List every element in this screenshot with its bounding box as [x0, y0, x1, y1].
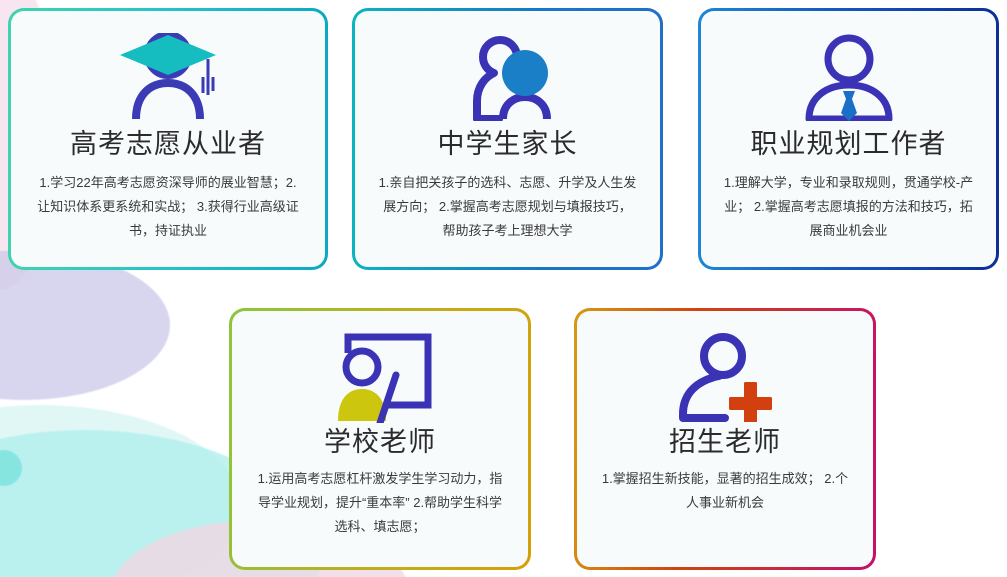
teacher-at-board-icon [324, 331, 436, 423]
audience-card-high-school-parent[interactable]: 中学生家长 1.亲自把关孩子的选科、志愿、升学及人生发展方向； 2.掌握高考志愿… [352, 8, 663, 270]
graduation-cap-person-icon [112, 31, 224, 123]
card-inner: 职业规划工作者 1.理解大学，专业和录取规则，贯通学校-产业； 2.掌握高考志愿… [701, 11, 996, 267]
person-with-necktie-icon [799, 31, 899, 123]
add-person-icon [671, 331, 779, 423]
card-title: 招生老师 [669, 427, 781, 457]
audience-card-gaokao-volunteer-practitioner[interactable]: 高考志愿从业者 1.学习22年高考志愿资深导师的展业智慧；2.让知识体系更系统和… [8, 8, 328, 270]
card-inner: 高考志愿从业者 1.学习22年高考志愿资深导师的展业智慧；2.让知识体系更系统和… [11, 11, 325, 267]
card-title: 中学生家长 [438, 129, 578, 159]
parent-and-child-icon [455, 31, 561, 123]
card-title: 职业规划工作者 [751, 129, 947, 159]
card-description: 1.理解大学，专业和录取规则，贯通学校-产业； 2.掌握高考志愿填报的方法和技巧… [717, 171, 980, 243]
audience-card-career-planner[interactable]: 职业规划工作者 1.理解大学，专业和录取规则，贯通学校-产业； 2.掌握高考志愿… [698, 8, 999, 270]
card-title: 高考志愿从业者 [70, 129, 266, 159]
card-title: 学校老师 [324, 427, 436, 457]
card-description: 1.运用高考志愿杠杆激发学生学习动力，指导学业规划，提升“重本率” 2.帮助学生… [248, 467, 512, 539]
audience-card-grid: 高考志愿从业者 1.学习22年高考志愿资深导师的展业智慧；2.让知识体系更系统和… [0, 0, 1007, 577]
card-description: 1.亲自把关孩子的选科、志愿、升学及人生发展方向； 2.掌握高考志愿规划与填报技… [371, 171, 644, 243]
audience-card-admissions-teacher[interactable]: 招生老师 1.掌握招生新技能，显著的招生成效； 2.个人事业新机会 [574, 308, 876, 570]
audience-card-school-teacher[interactable]: 学校老师 1.运用高考志愿杠杆激发学生学习动力，指导学业规划，提升“重本率” 2… [229, 308, 531, 570]
card-inner: 学校老师 1.运用高考志愿杠杆激发学生学习动力，指导学业规划，提升“重本率” 2… [232, 311, 528, 567]
card-inner: 中学生家长 1.亲自把关孩子的选科、志愿、升学及人生发展方向； 2.掌握高考志愿… [355, 11, 660, 267]
card-description: 1.学习22年高考志愿资深导师的展业智慧；2.让知识体系更系统和实战； 3.获得… [27, 171, 309, 243]
card-description: 1.掌握招生新技能，显著的招生成效； 2.个人事业新机会 [593, 467, 857, 515]
card-inner: 招生老师 1.掌握招生新技能，显著的招生成效； 2.个人事业新机会 [577, 311, 873, 567]
